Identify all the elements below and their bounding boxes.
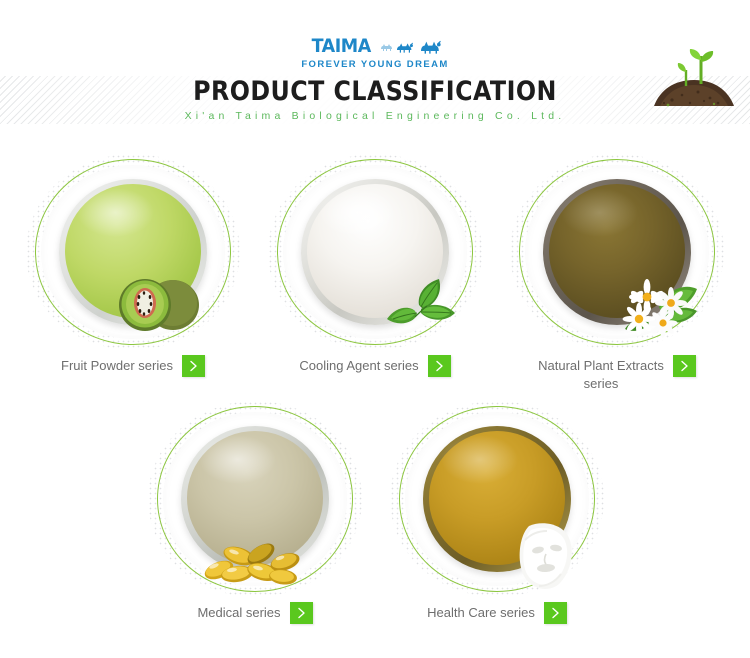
card-label: Natural Plant Extracts series [538, 355, 664, 393]
product-card-health-care[interactable]: Health Care series [372, 395, 622, 624]
kiwi-fruit-icon [113, 269, 199, 340]
softgel-capsules-icon [197, 530, 317, 593]
company-subtitle: Xi'an Taima Biological Engineering Co. L… [0, 110, 750, 122]
logo-wordmark: TAIMA [311, 37, 370, 56]
page-title: PRODUCT CLASSIFICATION [45, 78, 705, 106]
card-label-row: Natural Plant Extracts series [492, 355, 742, 393]
product-card-natural-plant-extracts[interactable]: Natural Plant Extracts series [492, 148, 742, 393]
card-arrow-button[interactable] [182, 355, 205, 377]
product-image-natural-plant-extracts [492, 148, 742, 353]
chamomile-flowers-icon [613, 261, 701, 344]
card-label: Medical series [197, 602, 280, 622]
facial-mask-icon [515, 520, 581, 597]
logo-tagline: FOREVER YOUNG DREAM [0, 59, 750, 70]
card-label: Health Care series [427, 602, 535, 622]
product-image-cooling-agent [250, 148, 500, 353]
white-disc [41, 165, 225, 339]
white-disc [405, 412, 589, 586]
card-label: Fruit Powder series [61, 355, 173, 375]
brand-logo[interactable]: TAIMA FOREVER YOUNG DREAM [0, 36, 750, 70]
white-disc [163, 412, 347, 586]
card-label: Cooling Agent series [299, 355, 418, 375]
card-label-row: Fruit Powder series [8, 355, 258, 377]
product-card-cooling-agent[interactable]: Cooling Agent series [250, 148, 500, 377]
card-label-row: Cooling Agent series [250, 355, 500, 377]
product-card-medical[interactable]: Medical series [130, 395, 380, 624]
logo-mark-row: TAIMA [309, 36, 441, 56]
product-image-health-care [372, 395, 622, 600]
product-card-fruit-powder[interactable]: Fruit Powder series [8, 148, 258, 377]
card-arrow-button[interactable] [290, 602, 313, 624]
card-label-row: Medical series [130, 602, 380, 624]
product-image-medical [130, 395, 380, 600]
card-label-row: Health Care series [372, 602, 622, 624]
mint-leaves-icon [375, 265, 459, 342]
white-disc [525, 165, 709, 339]
card-arrow-button[interactable] [544, 602, 567, 624]
white-disc [283, 165, 467, 339]
product-image-fruit-powder [8, 148, 258, 353]
page-header: TAIMA FOREVER YOUNG DREAM PRODUCT CLASSI [0, 0, 750, 140]
camel-icon [377, 38, 441, 54]
sprout-in-soil-icon [646, 48, 742, 110]
card-arrow-button[interactable] [673, 355, 696, 377]
card-arrow-button[interactable] [428, 355, 451, 377]
